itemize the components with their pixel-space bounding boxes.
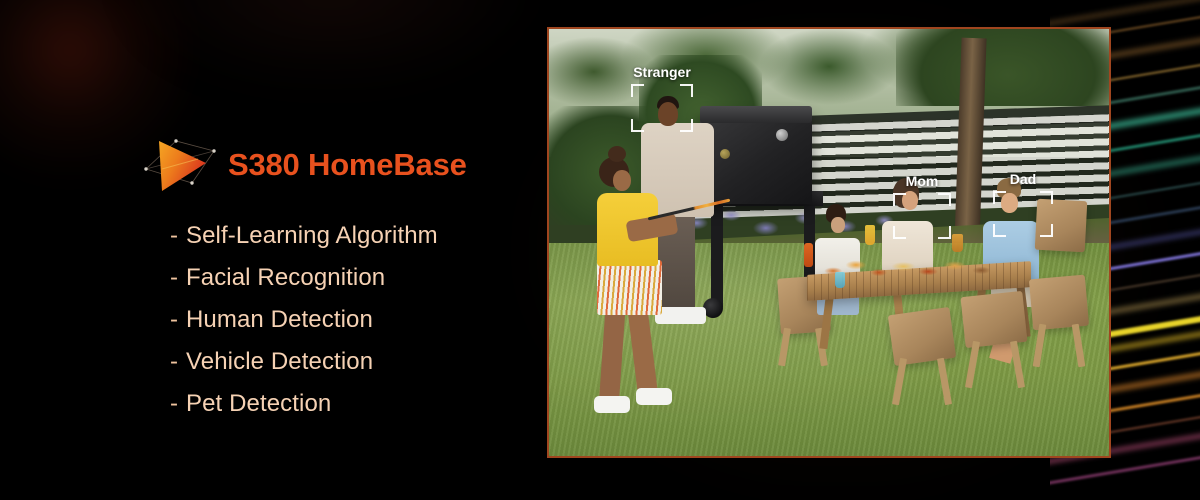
person-dad-face xyxy=(1001,193,1018,213)
person-girl-face xyxy=(613,170,631,191)
drink-bottle xyxy=(804,243,813,267)
grill-lid xyxy=(700,106,812,123)
product-photo-panel: Stranger Mom Dad xyxy=(547,27,1111,458)
grill-leg xyxy=(711,204,722,306)
drink-glass xyxy=(835,272,845,288)
person-mom-face xyxy=(902,191,918,210)
folding-chair xyxy=(887,307,955,366)
tree-canopy-right xyxy=(896,29,1109,106)
list-item-label: Human Detection xyxy=(186,306,373,334)
list-item: - Facial Recognition xyxy=(170,264,438,306)
list-bullet: - xyxy=(170,306,186,334)
list-item-label: Facial Recognition xyxy=(186,264,385,292)
person-girl-shoe xyxy=(636,388,672,405)
person-girl-shorts xyxy=(597,260,661,316)
list-item: - Vehicle Detection xyxy=(170,348,438,390)
folding-chair xyxy=(961,291,1028,348)
person-stranger-head xyxy=(658,102,678,126)
drink-glass xyxy=(865,225,875,245)
folding-chair xyxy=(1028,274,1088,330)
drink-glass xyxy=(952,234,963,252)
list-bullet: - xyxy=(170,264,186,292)
list-item-label: Self-Learning Algorithm xyxy=(186,222,438,250)
list-bullet: - xyxy=(170,390,186,418)
person-girl-shoe xyxy=(594,396,630,413)
list-bullet: - xyxy=(170,222,186,250)
list-item: - Self-Learning Algorithm xyxy=(170,222,438,264)
barbecue-grill xyxy=(700,110,812,204)
list-item: - Human Detection xyxy=(170,306,438,348)
backyard-barbecue-photo xyxy=(549,29,1109,456)
person-stranger-shoe xyxy=(655,307,705,324)
food-on-table xyxy=(818,253,1008,283)
list-item-label: Pet Detection xyxy=(186,390,331,418)
list-item: - Pet Detection xyxy=(170,390,438,432)
list-bullet: - xyxy=(170,348,186,376)
brand-header: S380 HomeBase xyxy=(140,132,467,198)
arrow-triangle-logo-icon xyxy=(140,129,236,201)
feature-list: - Self-Learning Algorithm - Facial Recog… xyxy=(170,222,438,432)
list-item-label: Vehicle Detection xyxy=(186,348,373,376)
grill-wheel xyxy=(703,298,723,318)
left-content-column: S380 HomeBase - Self-Learning Algorithm … xyxy=(0,0,520,500)
page-title: S380 HomeBase xyxy=(228,147,467,183)
promo-slide: S380 HomeBase - Self-Learning Algorithm … xyxy=(0,0,1200,500)
grill-knob xyxy=(720,149,730,159)
folding-chair xyxy=(1035,199,1088,253)
person-child-face xyxy=(831,217,845,233)
